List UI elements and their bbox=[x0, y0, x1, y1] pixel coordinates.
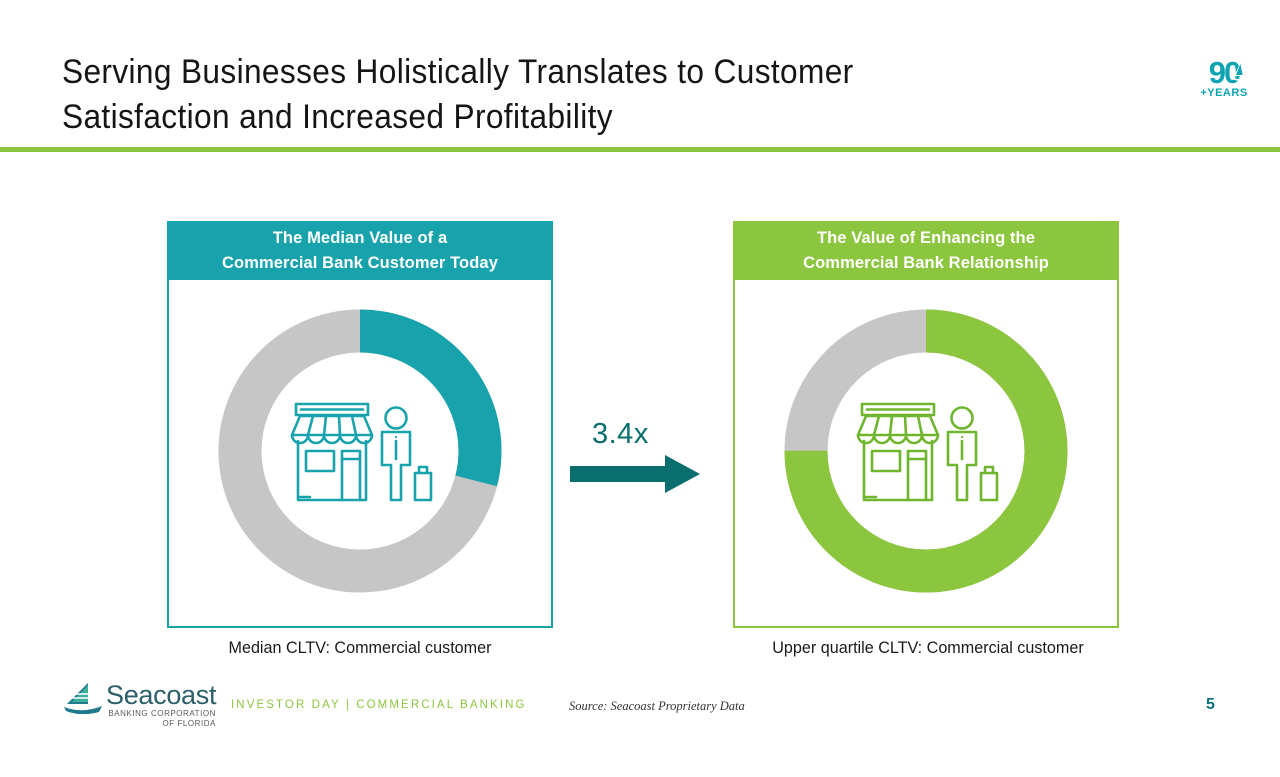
logo-subtitle: BANKING CORPORATION OF FLORIDA bbox=[106, 709, 216, 729]
multiplier-label: 3.4x bbox=[592, 418, 649, 451]
seacoast-logo: Seacoast BANKING CORPORATION OF FLORIDA bbox=[62, 681, 217, 729]
panel-median-value: The Median Value of a Commercial Bank Cu… bbox=[167, 221, 553, 628]
panel-right-header: The Value of Enhancing the Commercial Ba… bbox=[733, 221, 1119, 280]
right-arrow-icon bbox=[570, 455, 700, 493]
ninety-years-badge: 90 +YEARS bbox=[1185, 58, 1263, 110]
sailboat-icon bbox=[62, 682, 104, 714]
donut-chart-median bbox=[214, 305, 506, 597]
footer-source-note: Source: Seacoast Proprietary Data bbox=[569, 699, 745, 714]
panel-right-body bbox=[735, 280, 1117, 624]
panel-enhanced-value: The Value of Enhancing the Commercial Ba… bbox=[733, 221, 1119, 628]
caption-upper-quartile-cltv: Upper quartile CLTV: Commercial customer bbox=[729, 638, 1128, 658]
badge-number: 90 bbox=[1185, 58, 1263, 88]
title-divider bbox=[0, 147, 1280, 152]
panel-left-header: The Median Value of a Commercial Bank Cu… bbox=[167, 221, 553, 280]
page-title: Serving Businesses Holistically Translat… bbox=[62, 50, 992, 140]
storefront-with-customer-icon bbox=[282, 401, 438, 505]
caption-median-cltv: Median CLTV: Commercial customer bbox=[161, 638, 560, 658]
logo-wordmark: Seacoast bbox=[106, 680, 216, 711]
donut-chart-upper-quartile bbox=[780, 305, 1072, 597]
panel-left-body bbox=[169, 280, 551, 624]
footer-eyebrow: INVESTOR DAY | COMMERCIAL BANKING bbox=[231, 699, 527, 711]
page-number: 5 bbox=[1206, 696, 1215, 714]
storefront-with-customer-icon bbox=[848, 401, 1004, 505]
sailboat-icon bbox=[1230, 61, 1246, 81]
